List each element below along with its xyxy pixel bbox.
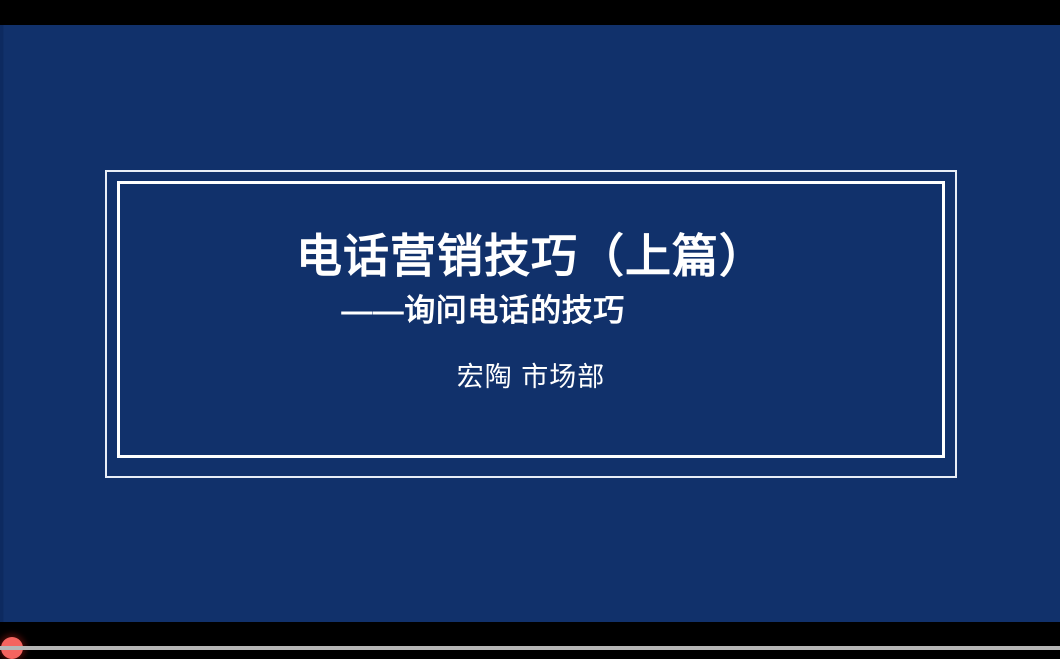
screen-viewport: 电话营销技巧（上篇） ——询问电话的技巧 宏陶 市场部 — [0, 0, 1060, 650]
letterbox-bottom — [0, 622, 1060, 646]
bottom-status-bar — [0, 646, 1060, 650]
slide-title-block: 电话营销技巧（上篇） ——询问电话的技巧 宏陶 市场部 — [117, 181, 945, 458]
letterbox-top — [0, 0, 1060, 25]
slide-subtitle: ——询问电话的技巧 — [341, 292, 625, 329]
slide-author: 宏陶 市场部 — [457, 361, 606, 393]
slide-title: 电话营销技巧（上篇） — [296, 231, 766, 283]
presentation-slide[interactable]: 电话营销技巧（上篇） ——询问电话的技巧 宏陶 市场部 — [0, 25, 1060, 622]
